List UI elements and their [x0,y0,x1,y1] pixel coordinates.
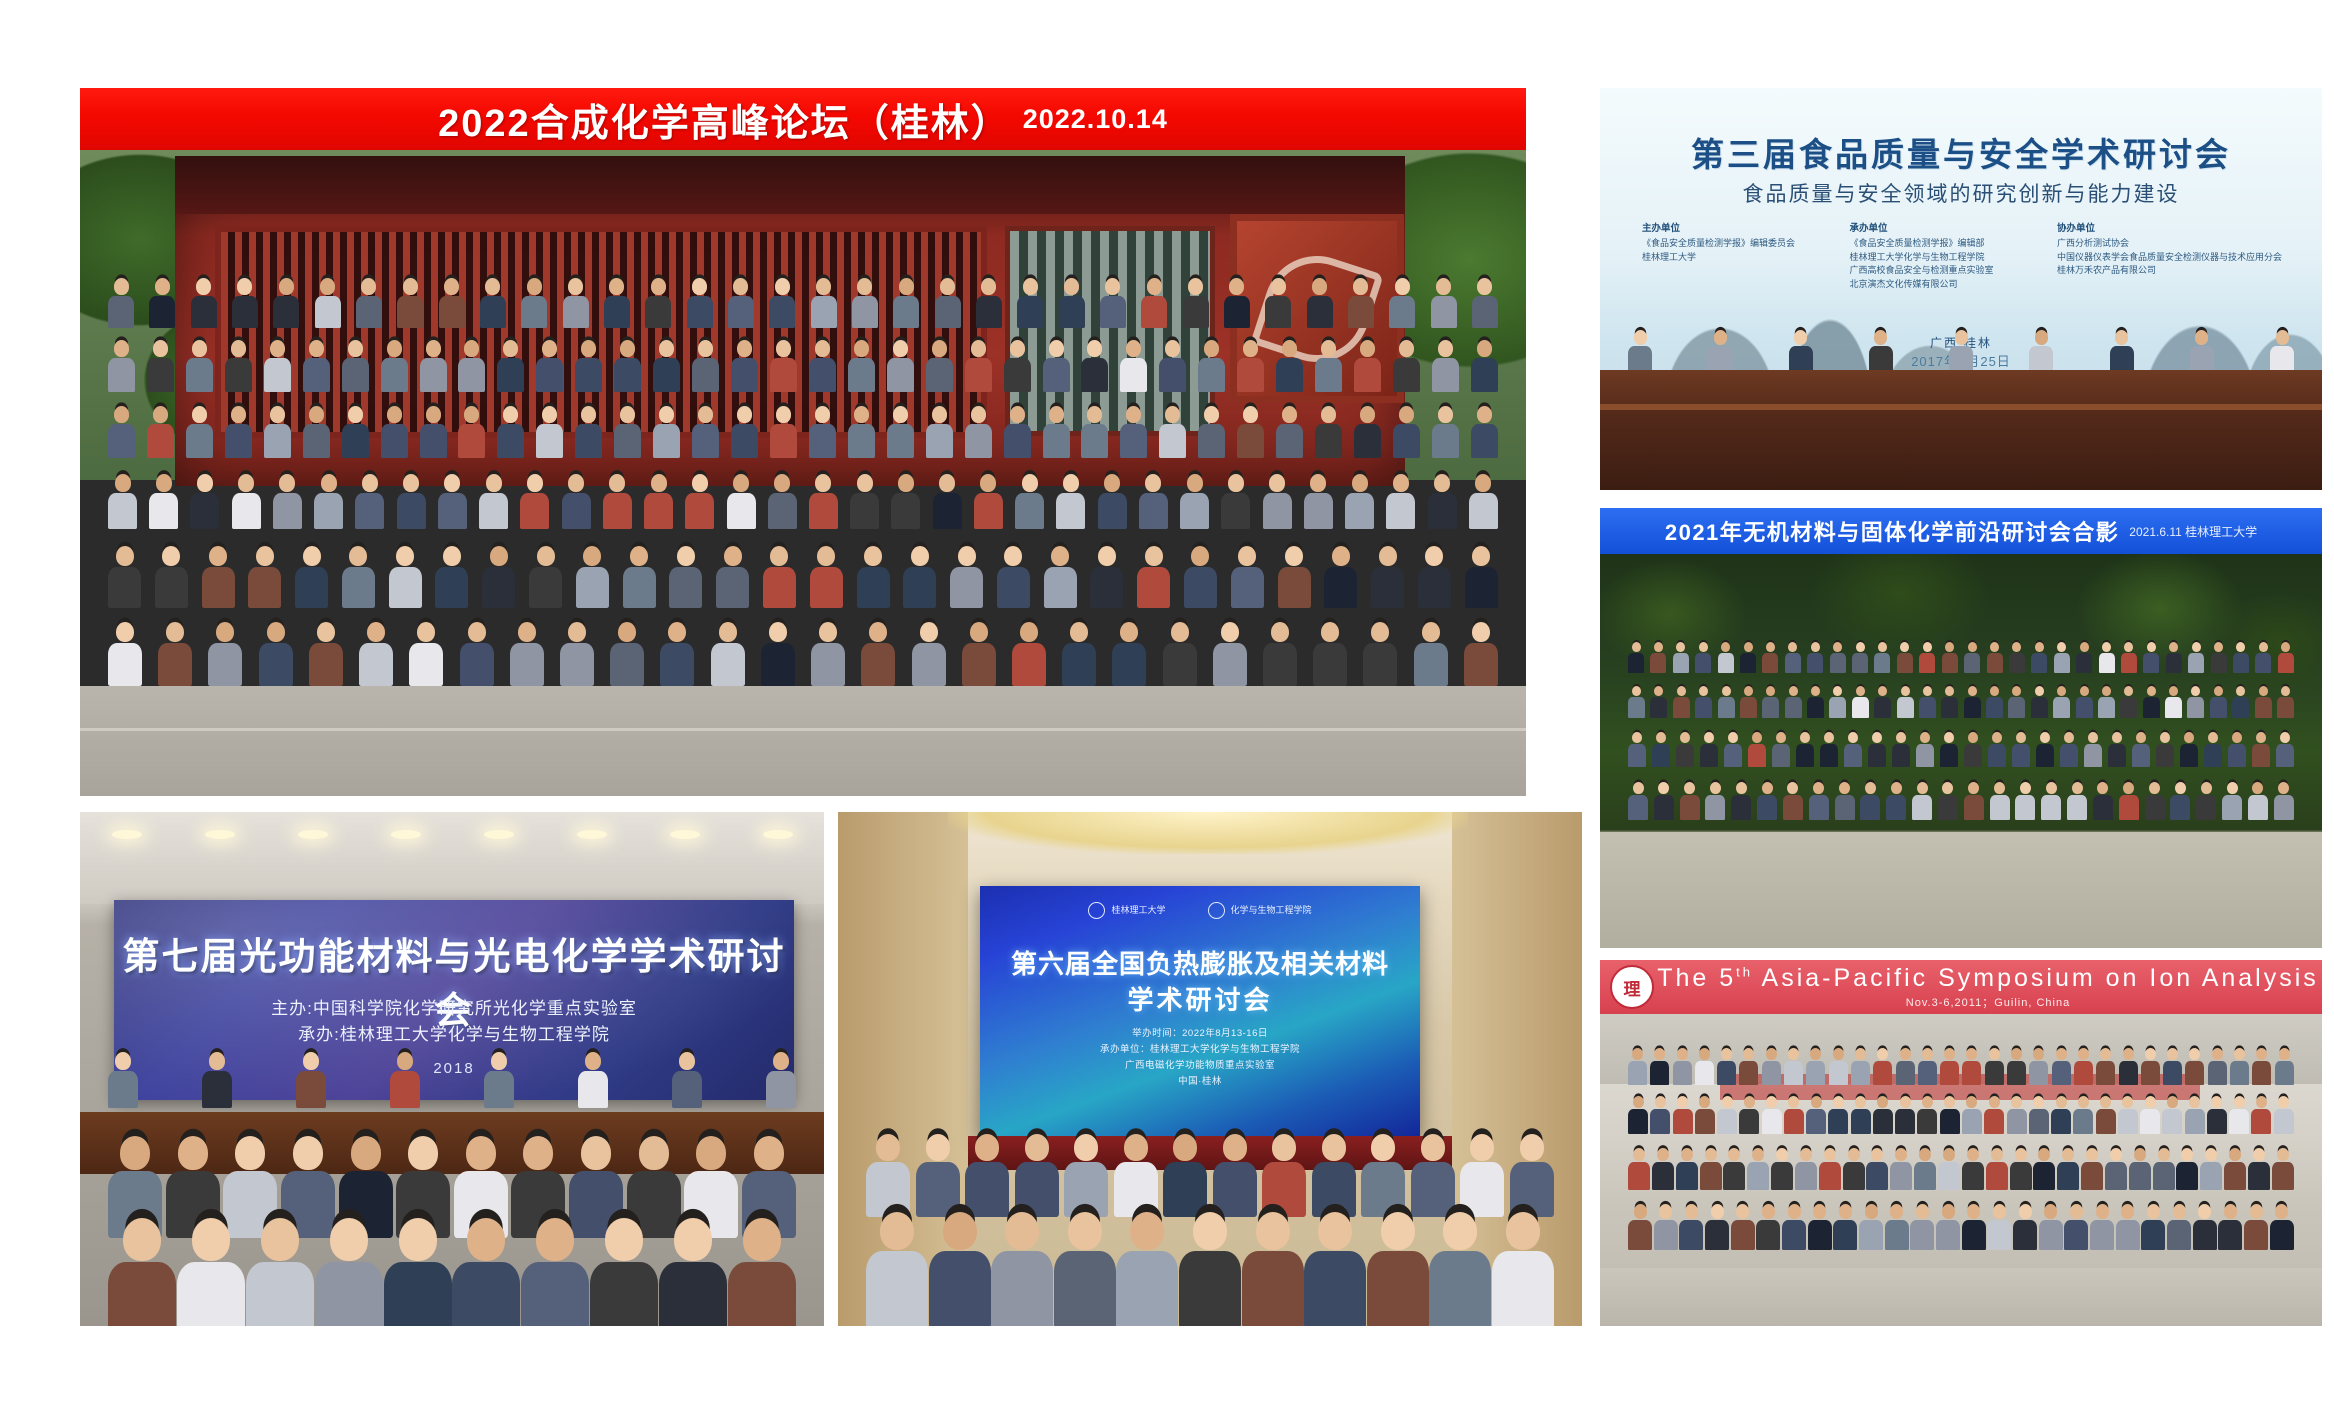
person [857,546,890,608]
person [2248,782,2268,820]
person [190,474,219,529]
person [731,406,758,458]
person [1941,686,1958,718]
person [1919,642,1935,673]
crowd-row [1600,330,2322,376]
person [1464,622,1498,686]
person [295,546,328,608]
person [848,340,875,392]
person [916,1134,960,1217]
person [497,406,524,458]
person [1986,686,2003,718]
person [1431,278,1457,328]
person [2270,1204,2294,1250]
apsia-title: The 5th Asia-Pacific Symposium on Ion An… [1654,964,2322,993]
person [1221,474,1250,529]
food-safety-title: 第三届食品质量与安全学术研讨会 [1600,128,2322,176]
person [2007,1048,2026,1085]
person [1242,1212,1304,1326]
person [1695,1096,1715,1134]
person [1756,1204,1780,1250]
person [687,278,713,328]
person [1628,1204,1652,1250]
person [2230,1048,2249,1085]
person [1940,1048,1959,1085]
photofunctional-head-table-panelists [80,1048,824,1118]
person [1262,1134,1306,1217]
person [1783,782,1803,820]
person [248,546,281,608]
person [1852,686,1869,718]
person [1940,1096,1960,1134]
person [529,546,562,608]
nte-hall: 桂林理工大学 化学与生物工程学院 第六届全国负热膨胀及相关材料 学术研讨会 举办… [838,812,1582,1326]
person [2029,1048,2048,1085]
person [108,406,135,458]
person [158,622,192,686]
person [1414,622,1448,686]
apsia-banner: 理 The 5th Asia-Pacific Symposium on Ion … [1600,960,2322,1014]
organizer-line: 广西高校食品安全与检测重点实验室 [1850,264,2038,278]
person [2090,1204,2114,1250]
person [1090,546,1123,608]
person [1265,278,1291,328]
person [1962,1148,1984,1190]
person [1345,474,1374,529]
person [2222,782,2242,820]
person [458,340,485,392]
person [2010,1148,2032,1190]
person [232,278,258,328]
person [1304,474,1333,529]
person [497,340,524,392]
person [1819,1148,1841,1190]
person [2008,686,2025,718]
organizer-line: 桂林理工大学 [1642,251,1830,265]
person [2196,782,2216,820]
inorganic-banner-title: 2021年无机材料与固体化学前沿研讨会合影 [1665,515,2119,547]
seal-glyph: 理 [1624,975,1641,1000]
person [1386,474,1415,529]
person [1695,1048,1714,1085]
person [1198,340,1225,392]
organizer-line: 《食品安全质量检测学报》编辑委员会 [1642,237,1830,251]
person [1985,1048,2004,1085]
person [2099,642,2115,673]
crowd-row [838,1134,1582,1217]
person [2054,642,2070,673]
person [2251,1096,2271,1134]
person [186,340,213,392]
person [2200,1148,2222,1190]
person [480,278,506,328]
person [435,546,468,608]
person [1964,642,1980,673]
person [536,340,563,392]
person [926,340,953,392]
crowd-row [1600,1096,2322,1134]
person [1914,1148,1936,1190]
person [2233,642,2249,673]
person [1964,782,1984,820]
person [2278,642,2294,673]
person [1650,642,1666,673]
person [1139,474,1168,529]
person [590,1218,658,1326]
person [1114,1134,1158,1217]
person [2033,1148,2055,1190]
person [273,474,302,529]
person [1986,1148,2008,1190]
person [1676,1148,1698,1190]
person [933,474,962,529]
forum-group-photo [80,150,1526,796]
photofunctional-audience [80,1126,824,1326]
person [1942,642,1958,673]
person [1465,546,1498,608]
person [1676,732,1694,767]
person [1964,732,1982,767]
pavilion-eaves [175,156,1405,214]
person [2064,1204,2088,1250]
person [1141,278,1167,328]
person [660,622,694,686]
person [1740,642,1756,673]
person [2105,1148,2127,1190]
crowd-row [80,474,1526,529]
logo-label: 化学与生物工程学院 [1231,905,1312,915]
photofunctional-organizer-line: 承办:桂林理工大学化学与生物工程学院 [114,1022,794,1048]
person [510,622,544,686]
person [1748,732,1766,767]
person [1695,642,1711,673]
person [1081,406,1108,458]
person [912,622,946,686]
person [2074,1048,2093,1085]
person [2211,642,2227,673]
person [2167,1204,2191,1250]
person [2119,1048,2138,1085]
person [644,474,673,529]
person [225,340,252,392]
forum-banner-title: 2022合成化学高峰论坛（桂林） [438,92,1011,147]
person [149,278,175,328]
person [614,340,641,392]
person [2110,330,2134,376]
inorganic-banner-meta: 2021.6.11 桂林理工大学 [2129,523,2257,540]
person [1886,782,1906,820]
person [1731,782,1751,820]
person [1796,732,1814,767]
person [1054,1212,1116,1326]
person [728,1218,796,1326]
person [811,622,845,686]
person [1679,1204,1703,1250]
person [2145,782,2165,820]
person [1949,330,1973,376]
person [1180,474,1209,529]
person [1807,686,1824,718]
person [604,278,630,328]
person [2252,732,2270,767]
person [1652,1148,1674,1190]
person [1324,546,1357,608]
person [770,340,797,392]
person [861,622,895,686]
person [1782,1204,1806,1250]
person [2187,686,2204,718]
person [520,474,549,529]
person [1043,406,1070,458]
person [155,546,188,608]
person [1918,1048,1937,1085]
person [2210,686,2227,718]
person [1059,278,1085,328]
person [384,1218,452,1326]
person [108,1218,176,1326]
photofunctional-backdrop-screen: 第七届光功能材料与光电化学学术研讨会 主办:中国科学院化学研究所光化学重点实验室… [114,900,794,1100]
nte-logos: 桂林理工大学 化学与生物工程学院 [980,902,1420,919]
person [1874,686,1891,718]
person [108,622,142,686]
person [866,1212,928,1326]
person [1628,782,1648,820]
person [603,474,632,529]
person [965,406,992,458]
person [1890,1148,1912,1190]
forum-banner-date: 2022.10.14 [1023,104,1168,135]
person [2129,1148,2151,1190]
person [1015,1134,1059,1217]
person [2229,1096,2249,1134]
person [2255,686,2272,718]
person [1628,642,1644,673]
person [1263,622,1297,686]
person [2143,686,2160,718]
person [1680,782,1700,820]
person [1628,1048,1647,1085]
nte-meta-line: 承办单位：桂林理工大学化学与生物工程学院 [980,1042,1420,1058]
person [1962,1048,1981,1085]
person [2132,732,2150,767]
person [935,278,961,328]
person [1056,474,1085,529]
person [2067,782,2087,820]
hall-chandelier [948,812,1468,854]
person [848,406,875,458]
person [2153,1148,2175,1190]
person [1739,1096,1759,1134]
person [2096,1096,2116,1134]
person [809,474,838,529]
person [315,1218,383,1326]
person [303,406,330,458]
person [950,546,983,608]
person [1718,686,1735,718]
nte-title-line2: 学术研讨会 [980,980,1420,1017]
apsia-group-photo [1600,1014,2322,1326]
person [1371,546,1404,608]
person [1628,686,1645,718]
organizer-block-host: 主办单位 《食品安全质量检测学报》编辑委员会 桂林理工大学 [1642,220,1830,291]
person [2041,782,2061,820]
person [1673,1096,1693,1134]
person [2163,1048,2182,1085]
person [1278,546,1311,608]
person [2013,1204,2037,1250]
person [1731,1204,1755,1250]
person [1859,1204,1883,1250]
person [2098,686,2115,718]
person [1471,406,1498,458]
person [2029,330,2053,376]
person [770,406,797,458]
person [309,622,343,686]
person [1044,546,1077,608]
college-seal-icon [1208,902,1225,919]
person [1184,546,1217,608]
person [903,546,936,608]
person [342,546,375,608]
person [614,406,641,458]
person [1912,782,1932,820]
person [314,474,343,529]
crowd-row [1600,642,2322,673]
person [1411,1134,1455,1217]
ceiling-lights [80,830,824,860]
person [653,340,680,392]
person [976,278,1002,328]
person [1237,406,1264,458]
logo-guilin-university: 桂林理工大学 [1088,902,1165,919]
person [2207,1096,2227,1134]
person [2276,732,2294,767]
person [768,474,797,529]
person [727,474,756,529]
person [1718,642,1734,673]
person [2224,1148,2246,1190]
person [2073,1096,2093,1134]
organizer-line: 桂林理工大学化学与生物工程学院 [1850,251,2038,265]
nte-title-line1: 第六届全国负热膨胀及相关材料 [980,944,1420,981]
person [1936,1204,1960,1250]
person [623,546,656,608]
person [1789,330,1813,376]
person [536,406,563,458]
person [1112,622,1146,686]
person [1231,546,1264,608]
person [2076,686,2093,718]
person [1830,642,1846,673]
person [2140,1096,2160,1134]
person [2096,1048,2115,1085]
person [1213,622,1247,686]
crowd-row [80,546,1526,608]
photo-panel-food-safety-symposium: 第三届食品质量与安全学术研讨会 食品质量与安全领域的研究创新与能力建设 主办单位… [1600,88,2322,490]
person [1695,686,1712,718]
forum-banner: 2022合成化学高峰论坛（桂林） 2022.10.14 [80,88,1526,150]
person [1717,1048,1736,1085]
person [2121,642,2137,673]
crowd-row [1600,686,2322,718]
photofunctional-date: 2018 [114,1060,794,1077]
person [2141,1048,2160,1085]
person [1137,546,1170,608]
person [1747,1148,1769,1190]
person [659,1218,727,1326]
person [2176,1148,2198,1190]
person [1829,686,1846,718]
person [997,546,1030,608]
person [149,474,178,529]
person [991,1212,1053,1326]
person [208,622,242,686]
person [1348,278,1374,328]
food-safety-organizers: 主办单位 《食品安全质量检测学报》编辑委员会 桂林理工大学 承办单位 《食品安全… [1642,220,2282,291]
person [1628,732,1646,767]
person [1393,406,1420,458]
person [409,622,443,686]
person [669,546,702,608]
person [1098,474,1127,529]
person [2255,642,2271,673]
person [1492,1212,1554,1326]
person [2270,330,2294,376]
person [1116,1212,1178,1326]
person [1868,732,1886,767]
person [1739,1048,1758,1085]
person [1700,732,1718,767]
person [893,278,919,328]
person [2274,1096,2294,1134]
inorganic-group-photo [1600,554,2322,948]
person [1418,546,1451,608]
person [1213,1134,1257,1217]
person [2120,686,2137,718]
person [1895,1096,1915,1134]
food-safety-head-table [1600,370,2322,490]
person [2031,642,2047,673]
person [809,340,836,392]
person [1163,622,1197,686]
crowd-row [1600,1204,2322,1250]
person [1820,732,1838,767]
person [692,340,719,392]
crowd-row [1600,732,2322,767]
person [1432,406,1459,458]
person [2232,686,2249,718]
person [147,406,174,458]
person [186,406,213,458]
person [1910,1204,1934,1250]
photo-panel-inorganic-materials: 2021年无机材料与固体化学前沿研讨会合影 2021.6.11 桂林理工大学 [1600,508,2322,948]
person [1673,686,1690,718]
photofunctional-hall: 第七届光功能材料与光电化学学术研讨会 主办:中国科学院化学研究所光化学重点实验室… [80,812,824,1326]
person [1700,1148,1722,1190]
person [1938,1148,1960,1190]
nte-meta-line: 举办时间：2022年8月13-16日 [980,1026,1420,1042]
apsia-crowd [1600,1024,2322,1274]
person [1860,782,1880,820]
person [1471,340,1498,392]
person [2180,732,2198,767]
person [2277,686,2294,718]
person [420,340,447,392]
crowd-row [80,406,1526,458]
crowd-row [1600,1048,2322,1085]
photo-panel-photofunctional-materials: 第七届光功能材料与光电化学学术研讨会 主办:中国科学院化学研究所光化学重点实验室… [80,812,824,1326]
person [2060,732,2078,767]
